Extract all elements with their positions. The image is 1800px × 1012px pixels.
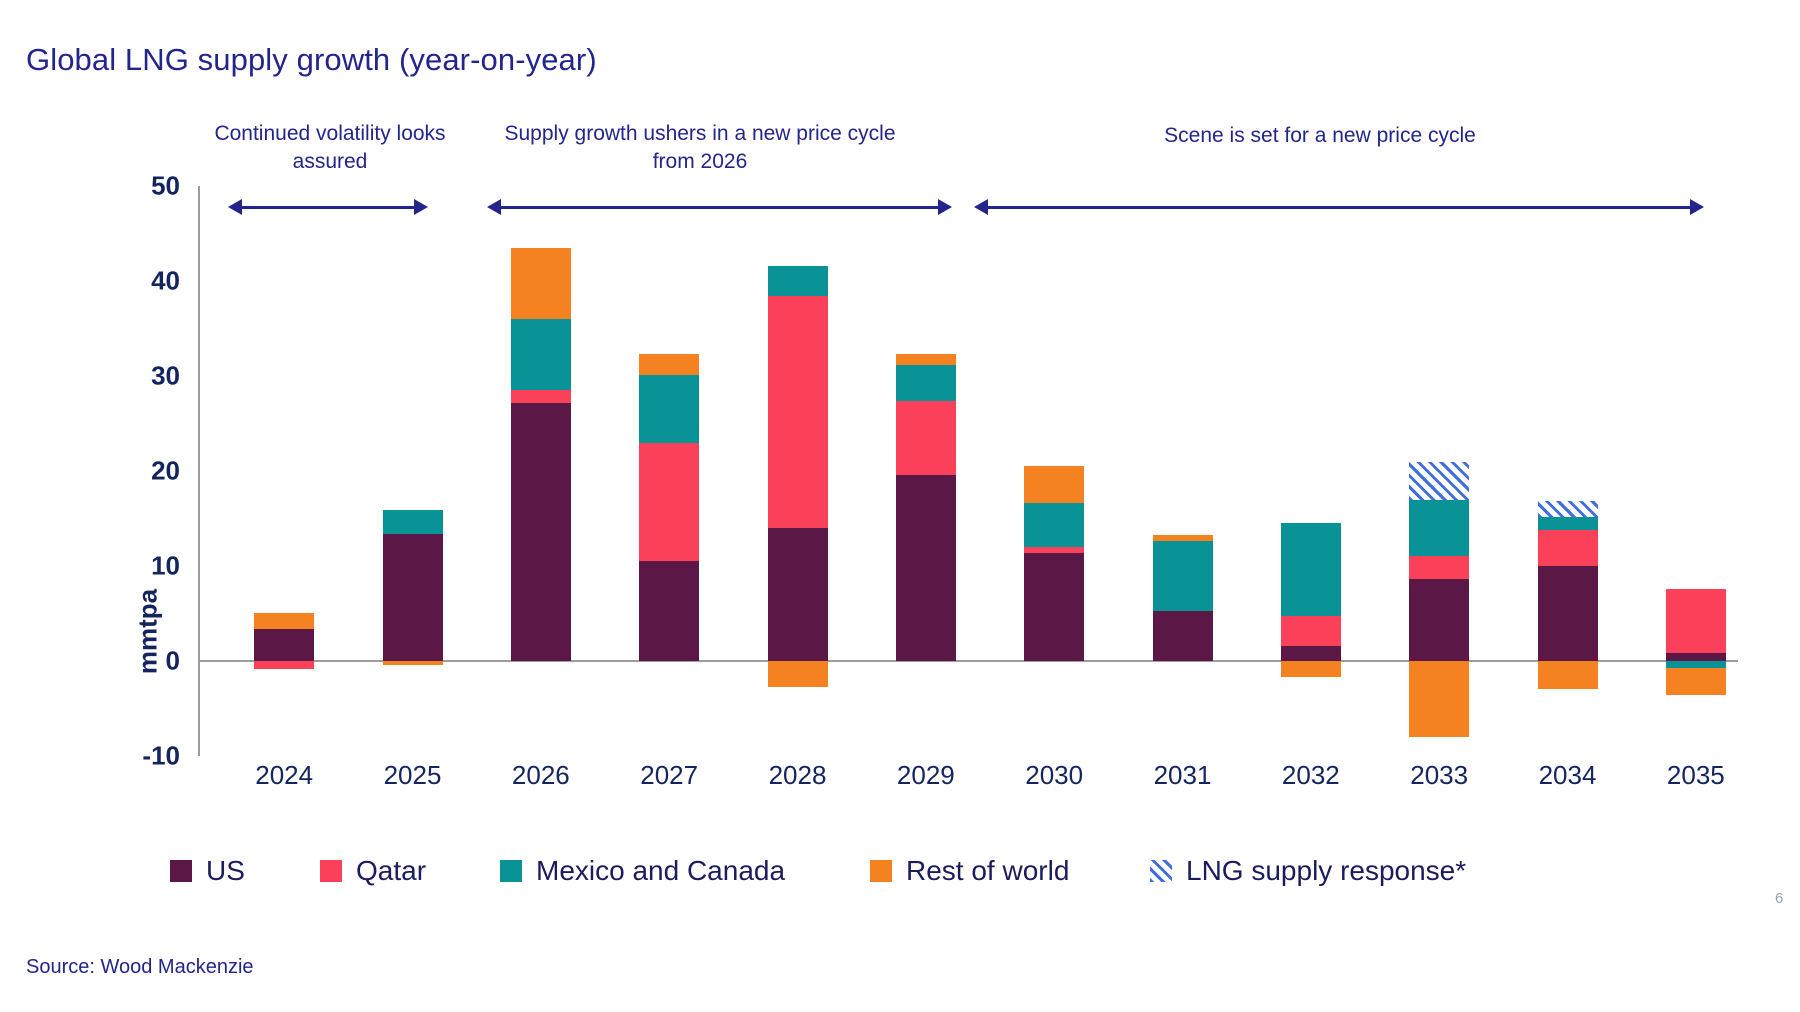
bar-segment-rest_of_world[interactable] xyxy=(383,661,443,665)
legend-swatch-supply_response-icon xyxy=(1150,860,1172,882)
legend-swatch-rest_of_world-icon xyxy=(870,860,892,882)
bar-column-2033[interactable]: 2033 xyxy=(1409,186,1469,756)
bar-segment-mexico_canada[interactable] xyxy=(1153,541,1213,610)
bar-segment-qatar[interactable] xyxy=(1666,589,1726,654)
bar-segment-mexico_canada[interactable] xyxy=(1538,517,1598,530)
bar-segment-us[interactable] xyxy=(1024,553,1084,661)
page-number: 6 xyxy=(1775,890,1783,907)
bar-segment-us[interactable] xyxy=(768,528,828,661)
bar-column-2028[interactable]: 2028 xyxy=(768,186,828,756)
bar-segment-qatar[interactable] xyxy=(639,443,699,561)
y-axis-tick-label: 30 xyxy=(90,361,180,392)
bar-segment-rest_of_world[interactable] xyxy=(254,613,314,629)
bar-segment-mexico_canada[interactable] xyxy=(1024,503,1084,547)
chart-plot-area: mmtpa 50403020100-10 2024202520262027202… xyxy=(198,186,1738,756)
bar-segment-qatar[interactable] xyxy=(768,296,828,528)
bar-segment-supply_response[interactable] xyxy=(1409,462,1469,500)
bar-segment-qatar[interactable] xyxy=(254,661,314,669)
bar-segment-qatar[interactable] xyxy=(1024,547,1084,553)
bar-segment-us[interactable] xyxy=(511,403,571,661)
source-note: Source: Wood Mackenzie xyxy=(26,956,254,979)
y-axis-tick-label: 10 xyxy=(90,551,180,582)
y-axis-line xyxy=(198,186,200,756)
legend-swatch-us-icon xyxy=(170,860,192,882)
legend-item-us[interactable]: US xyxy=(170,855,245,887)
bar-segment-rest_of_world[interactable] xyxy=(1281,661,1341,677)
annotation-continued-volatility: Continued volatility looks assured xyxy=(200,120,460,175)
bar-segment-qatar[interactable] xyxy=(896,401,956,475)
annotation-new-price-cycle: Scene is set for a new price cycle xyxy=(1090,122,1550,150)
bar-segment-qatar[interactable] xyxy=(1409,556,1469,580)
y-axis-tick-label: 0 xyxy=(90,646,180,677)
bar-segment-qatar[interactable] xyxy=(1538,530,1598,566)
bar-column-2029[interactable]: 2029 xyxy=(896,186,956,756)
bar-segment-mexico_canada[interactable] xyxy=(639,375,699,443)
bar-segment-us[interactable] xyxy=(896,475,956,661)
bar-segment-mexico_canada[interactable] xyxy=(1281,523,1341,616)
bar-column-2027[interactable]: 2027 xyxy=(639,186,699,756)
legend-swatch-qatar-icon xyxy=(320,860,342,882)
legend-label: Mexico and Canada xyxy=(536,855,785,887)
bar-segment-rest_of_world[interactable] xyxy=(1024,466,1084,503)
legend-item-mexico_canada[interactable]: Mexico and Canada xyxy=(500,855,785,887)
bar-segment-rest_of_world[interactable] xyxy=(511,248,571,319)
slide-canvas: Global LNG supply growth (year-on-year) … xyxy=(0,0,1800,1012)
bar-segment-rest_of_world[interactable] xyxy=(768,661,828,687)
bar-segment-us[interactable] xyxy=(1538,566,1598,661)
bar-segment-us[interactable] xyxy=(1281,646,1341,661)
bar-segment-us[interactable] xyxy=(1153,611,1213,661)
bar-column-2025[interactable]: 2025 xyxy=(383,186,443,756)
legend-label: LNG supply response* xyxy=(1186,855,1466,887)
bar-segment-qatar[interactable] xyxy=(511,390,571,402)
bar-segment-rest_of_world[interactable] xyxy=(1409,661,1469,737)
y-axis-tick-label: 20 xyxy=(90,456,180,487)
legend-swatch-mexico_canada-icon xyxy=(500,860,522,882)
bar-segment-us[interactable] xyxy=(383,534,443,661)
bar-column-2035[interactable]: 2035 xyxy=(1666,186,1726,756)
bar-segment-mexico_canada[interactable] xyxy=(1666,661,1726,668)
page-title: Global LNG supply growth (year-on-year) xyxy=(26,42,597,78)
bar-segment-us[interactable] xyxy=(639,561,699,661)
bar-segment-qatar[interactable] xyxy=(1281,616,1341,645)
bar-segment-rest_of_world[interactable] xyxy=(896,354,956,364)
x-axis-tick-label-2035: 2035 xyxy=(1621,760,1771,791)
annotation-supply-growth: Supply growth ushers in a new price cycl… xyxy=(500,120,900,175)
bar-segment-us[interactable] xyxy=(1409,579,1469,661)
bar-segment-supply_response[interactable] xyxy=(1538,501,1598,516)
bar-segment-us[interactable] xyxy=(1666,653,1726,661)
bar-column-2031[interactable]: 2031 xyxy=(1153,186,1213,756)
bar-segment-mexico_canada[interactable] xyxy=(1409,500,1469,555)
legend-label: Rest of world xyxy=(906,855,1069,887)
bar-column-2032[interactable]: 2032 xyxy=(1281,186,1341,756)
legend-label: US xyxy=(206,855,245,887)
bar-segment-us[interactable] xyxy=(254,629,314,661)
bar-segment-rest_of_world[interactable] xyxy=(1153,535,1213,542)
legend-label: Qatar xyxy=(356,855,426,887)
bar-segment-mexico_canada[interactable] xyxy=(383,510,443,534)
bar-segment-mexico_canada[interactable] xyxy=(511,319,571,390)
bar-segment-mexico_canada[interactable] xyxy=(768,266,828,296)
bar-segment-mexico_canada[interactable] xyxy=(896,365,956,401)
y-axis-tick-label: -10 xyxy=(90,741,180,772)
bar-segment-rest_of_world[interactable] xyxy=(1666,668,1726,696)
legend-item-supply_response[interactable]: LNG supply response* xyxy=(1150,855,1466,887)
bar-column-2030[interactable]: 2030 xyxy=(1024,186,1084,756)
y-axis-tick-label: 40 xyxy=(90,266,180,297)
legend-item-qatar[interactable]: Qatar xyxy=(320,855,426,887)
bar-column-2034[interactable]: 2034 xyxy=(1538,186,1598,756)
bar-segment-rest_of_world[interactable] xyxy=(1538,661,1598,689)
bar-column-2024[interactable]: 2024 xyxy=(254,186,314,756)
bar-segment-rest_of_world[interactable] xyxy=(639,354,699,375)
bar-column-2026[interactable]: 2026 xyxy=(511,186,571,756)
legend-item-rest_of_world[interactable]: Rest of world xyxy=(870,855,1069,887)
chart-legend: USQatarMexico and CanadaRest of worldLNG… xyxy=(170,855,1670,895)
y-axis-tick-label: 50 xyxy=(90,171,180,202)
